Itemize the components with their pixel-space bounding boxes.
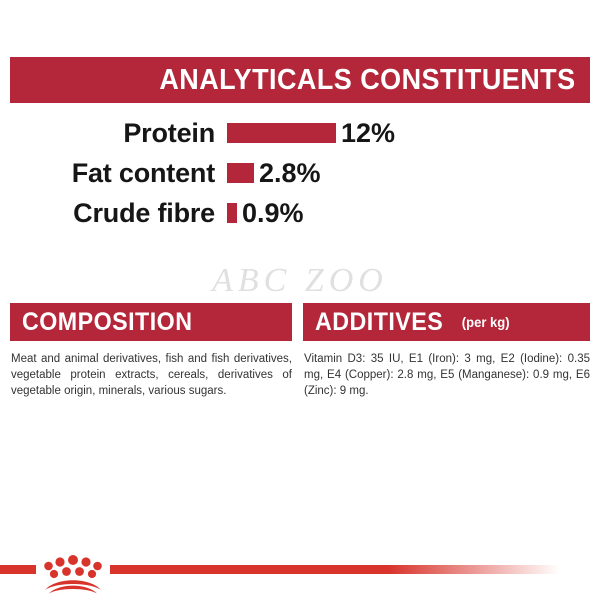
nutrient-bar-crude-fibre bbox=[227, 203, 237, 223]
nutrient-label-crude-fibre: Crude fibre bbox=[0, 200, 215, 227]
analyticals-header-bar: ANALYTICALS CONSTITUENTS bbox=[10, 57, 590, 103]
nutrient-bar-wrap: 0.9% bbox=[227, 200, 304, 227]
nutrient-bar-protein bbox=[227, 123, 336, 143]
analyticals-title: ANALYTICALS CONSTITUENTS bbox=[160, 66, 576, 95]
footer bbox=[0, 552, 600, 600]
nutrient-label-fat-content: Fat content bbox=[0, 160, 215, 187]
nutrient-bar-wrap: 2.8% bbox=[227, 160, 321, 187]
additives-title: ADDITIVES bbox=[315, 310, 443, 335]
nutrient-label-protein: Protein bbox=[0, 120, 215, 147]
nutrient-bar-fat-content bbox=[227, 163, 254, 183]
nutrient-value-fat-content: 2.8% bbox=[259, 160, 321, 187]
nutrient-row: Fat content 2.8% bbox=[0, 153, 600, 193]
royal-canin-crown-icon bbox=[40, 552, 106, 594]
nutrient-value-crude-fibre: 0.9% bbox=[242, 200, 304, 227]
composition-header-bar: COMPOSITION bbox=[10, 303, 292, 341]
footer-rule-left bbox=[0, 565, 36, 574]
additives-header-bar: ADDITIVES (per kg) bbox=[303, 303, 590, 341]
nutrient-row: Protein 12% bbox=[0, 113, 600, 153]
watermark: ABC ZOO bbox=[0, 262, 600, 300]
additives-subtitle: (per kg) bbox=[462, 314, 510, 330]
composition-title: COMPOSITION bbox=[22, 310, 192, 335]
additives-body-text: Vitamin D3: 35 IU, E1 (Iron): 3 mg, E2 (… bbox=[304, 352, 590, 400]
nutrient-bar-wrap: 12% bbox=[227, 120, 395, 147]
analyticals-chart: Protein 12% Fat content 2.8% Crude fibre… bbox=[0, 113, 600, 233]
nutrient-row: Crude fibre 0.9% bbox=[0, 193, 600, 233]
nutrient-value-protein: 12% bbox=[341, 120, 395, 147]
composition-body-text: Meat and animal derivatives, fish and fi… bbox=[11, 352, 292, 400]
footer-rule-right bbox=[110, 565, 560, 574]
